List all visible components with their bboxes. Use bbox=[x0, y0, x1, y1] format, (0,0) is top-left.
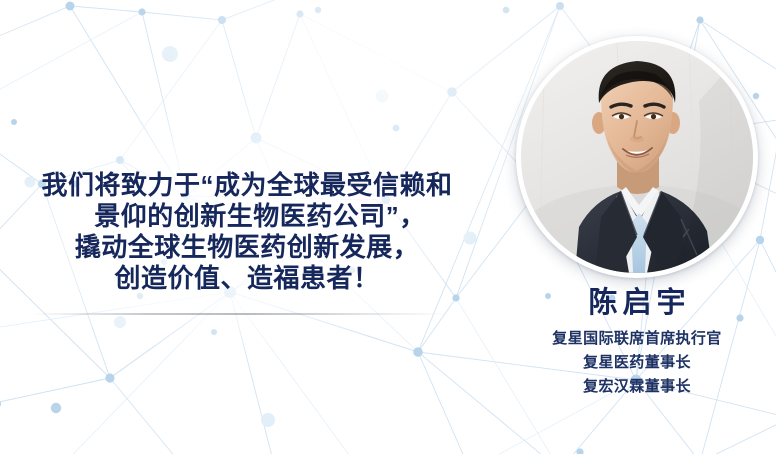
person-name: 陈启宇 bbox=[516, 286, 758, 320]
quote-line-2: 景仰的创新生物医药公司”， bbox=[8, 201, 486, 232]
person-title-2: 复星医药董事长 bbox=[496, 351, 776, 375]
quote-divider-line bbox=[30, 313, 450, 315]
quote-text-block: 我们将致力于“成为全球最受信赖和 景仰的创新生物医药公司”， 撬动全球生物医药创… bbox=[8, 170, 486, 294]
portrait-photo bbox=[521, 41, 753, 273]
quote-slide: 我们将致力于“成为全球最受信赖和 景仰的创新生物医药公司”， 撬动全球生物医药创… bbox=[0, 0, 776, 454]
portrait-container bbox=[516, 36, 758, 278]
quote-line-3: 撬动全球生物医药创新发展， bbox=[8, 232, 486, 263]
quote-line-1: 我们将致力于“成为全球最受信赖和 bbox=[8, 170, 486, 201]
person-titles: 复星国际联席首席执行官 复星医药董事长 复宏汉霖董事长 bbox=[496, 327, 776, 399]
person-title-3: 复宏汉霖董事长 bbox=[496, 375, 776, 399]
quote-line-4: 创造价值、造福患者！ bbox=[8, 263, 486, 294]
person-title-1: 复星国际联席首席执行官 bbox=[496, 327, 776, 351]
portrait-clip bbox=[521, 41, 753, 273]
